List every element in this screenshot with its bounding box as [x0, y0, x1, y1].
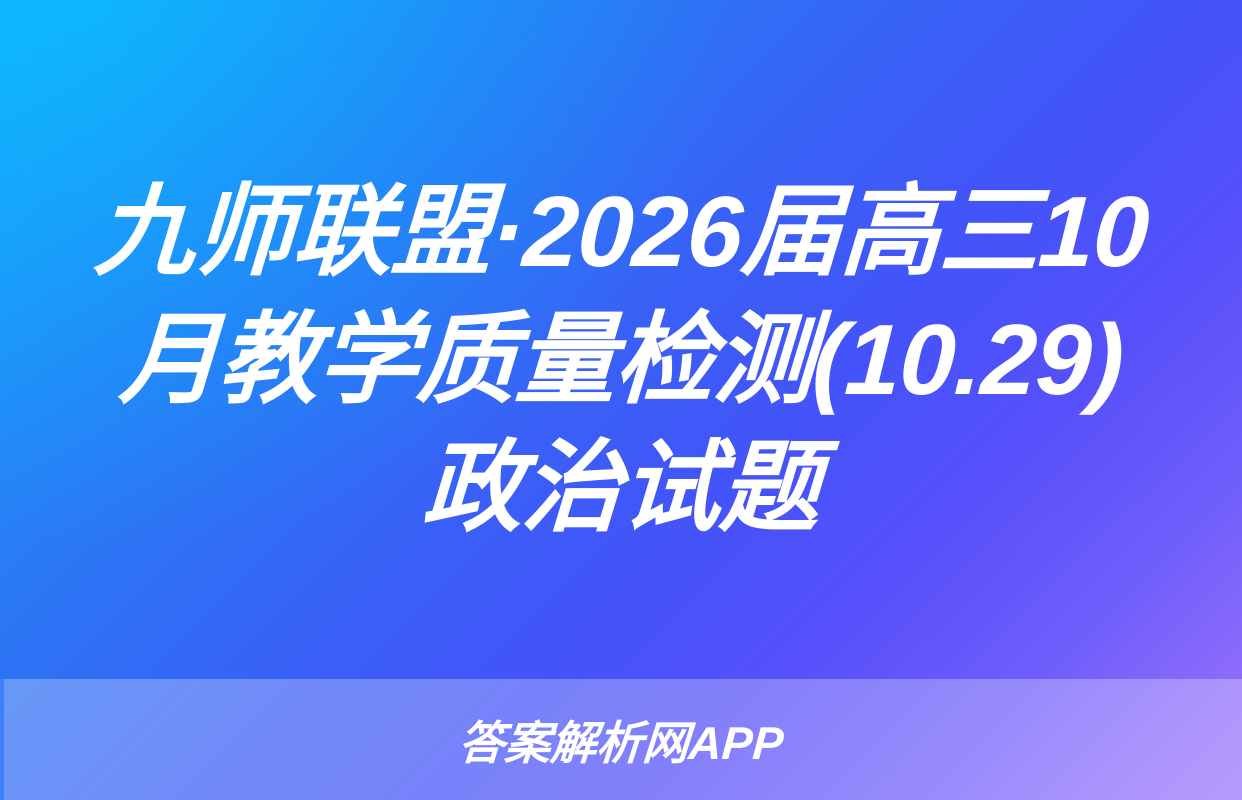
title-line-1: 九师联盟·2026届高三10 — [91, 168, 1151, 296]
title-line-2: 月教学质量检测(10.29) — [116, 296, 1126, 424]
watermark-brand-label: 答案解析网APP — [456, 707, 785, 773]
cover-title-block: 九师联盟·2026届高三10 月教学质量检测(10.29) 政治试题 — [0, 0, 1242, 679]
exam-cover-card: 九师联盟·2026届高三10 月教学质量检测(10.29) 政治试题 答案解析网… — [0, 0, 1242, 800]
watermark-container: 答案解析网APP — [0, 679, 1242, 800]
title-line-3: 政治试题 — [420, 424, 823, 552]
